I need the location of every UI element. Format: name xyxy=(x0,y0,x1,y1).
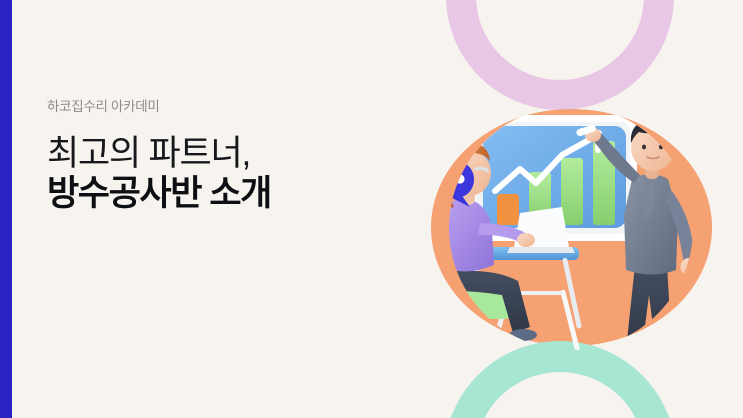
bubble-dot-1 xyxy=(431,174,440,183)
left-accent-bar xyxy=(0,0,12,418)
chair-back xyxy=(434,205,448,257)
bar-1 xyxy=(497,194,519,225)
bubble-dot-3 xyxy=(455,174,464,183)
promo-banner: 하코집수리 아카데미 최고의 파트너, 방수공사반 소개 xyxy=(0,0,743,418)
bubble-dot-2 xyxy=(443,174,452,183)
eyebrow-label: 하코집수리 아카데미 xyxy=(47,100,271,114)
illustration-scene xyxy=(422,115,698,365)
purple-ring-shape xyxy=(446,0,674,110)
bar-3 xyxy=(561,158,583,225)
headline-text-block: 하코집수리 아카데미 최고의 파트너, 방수공사반 소개 xyxy=(47,100,271,214)
presentation-illustration xyxy=(410,95,730,365)
headline-line-1: 최고의 파트너, xyxy=(47,134,271,173)
headline-line-2: 방수공사반 소개 xyxy=(47,173,271,214)
